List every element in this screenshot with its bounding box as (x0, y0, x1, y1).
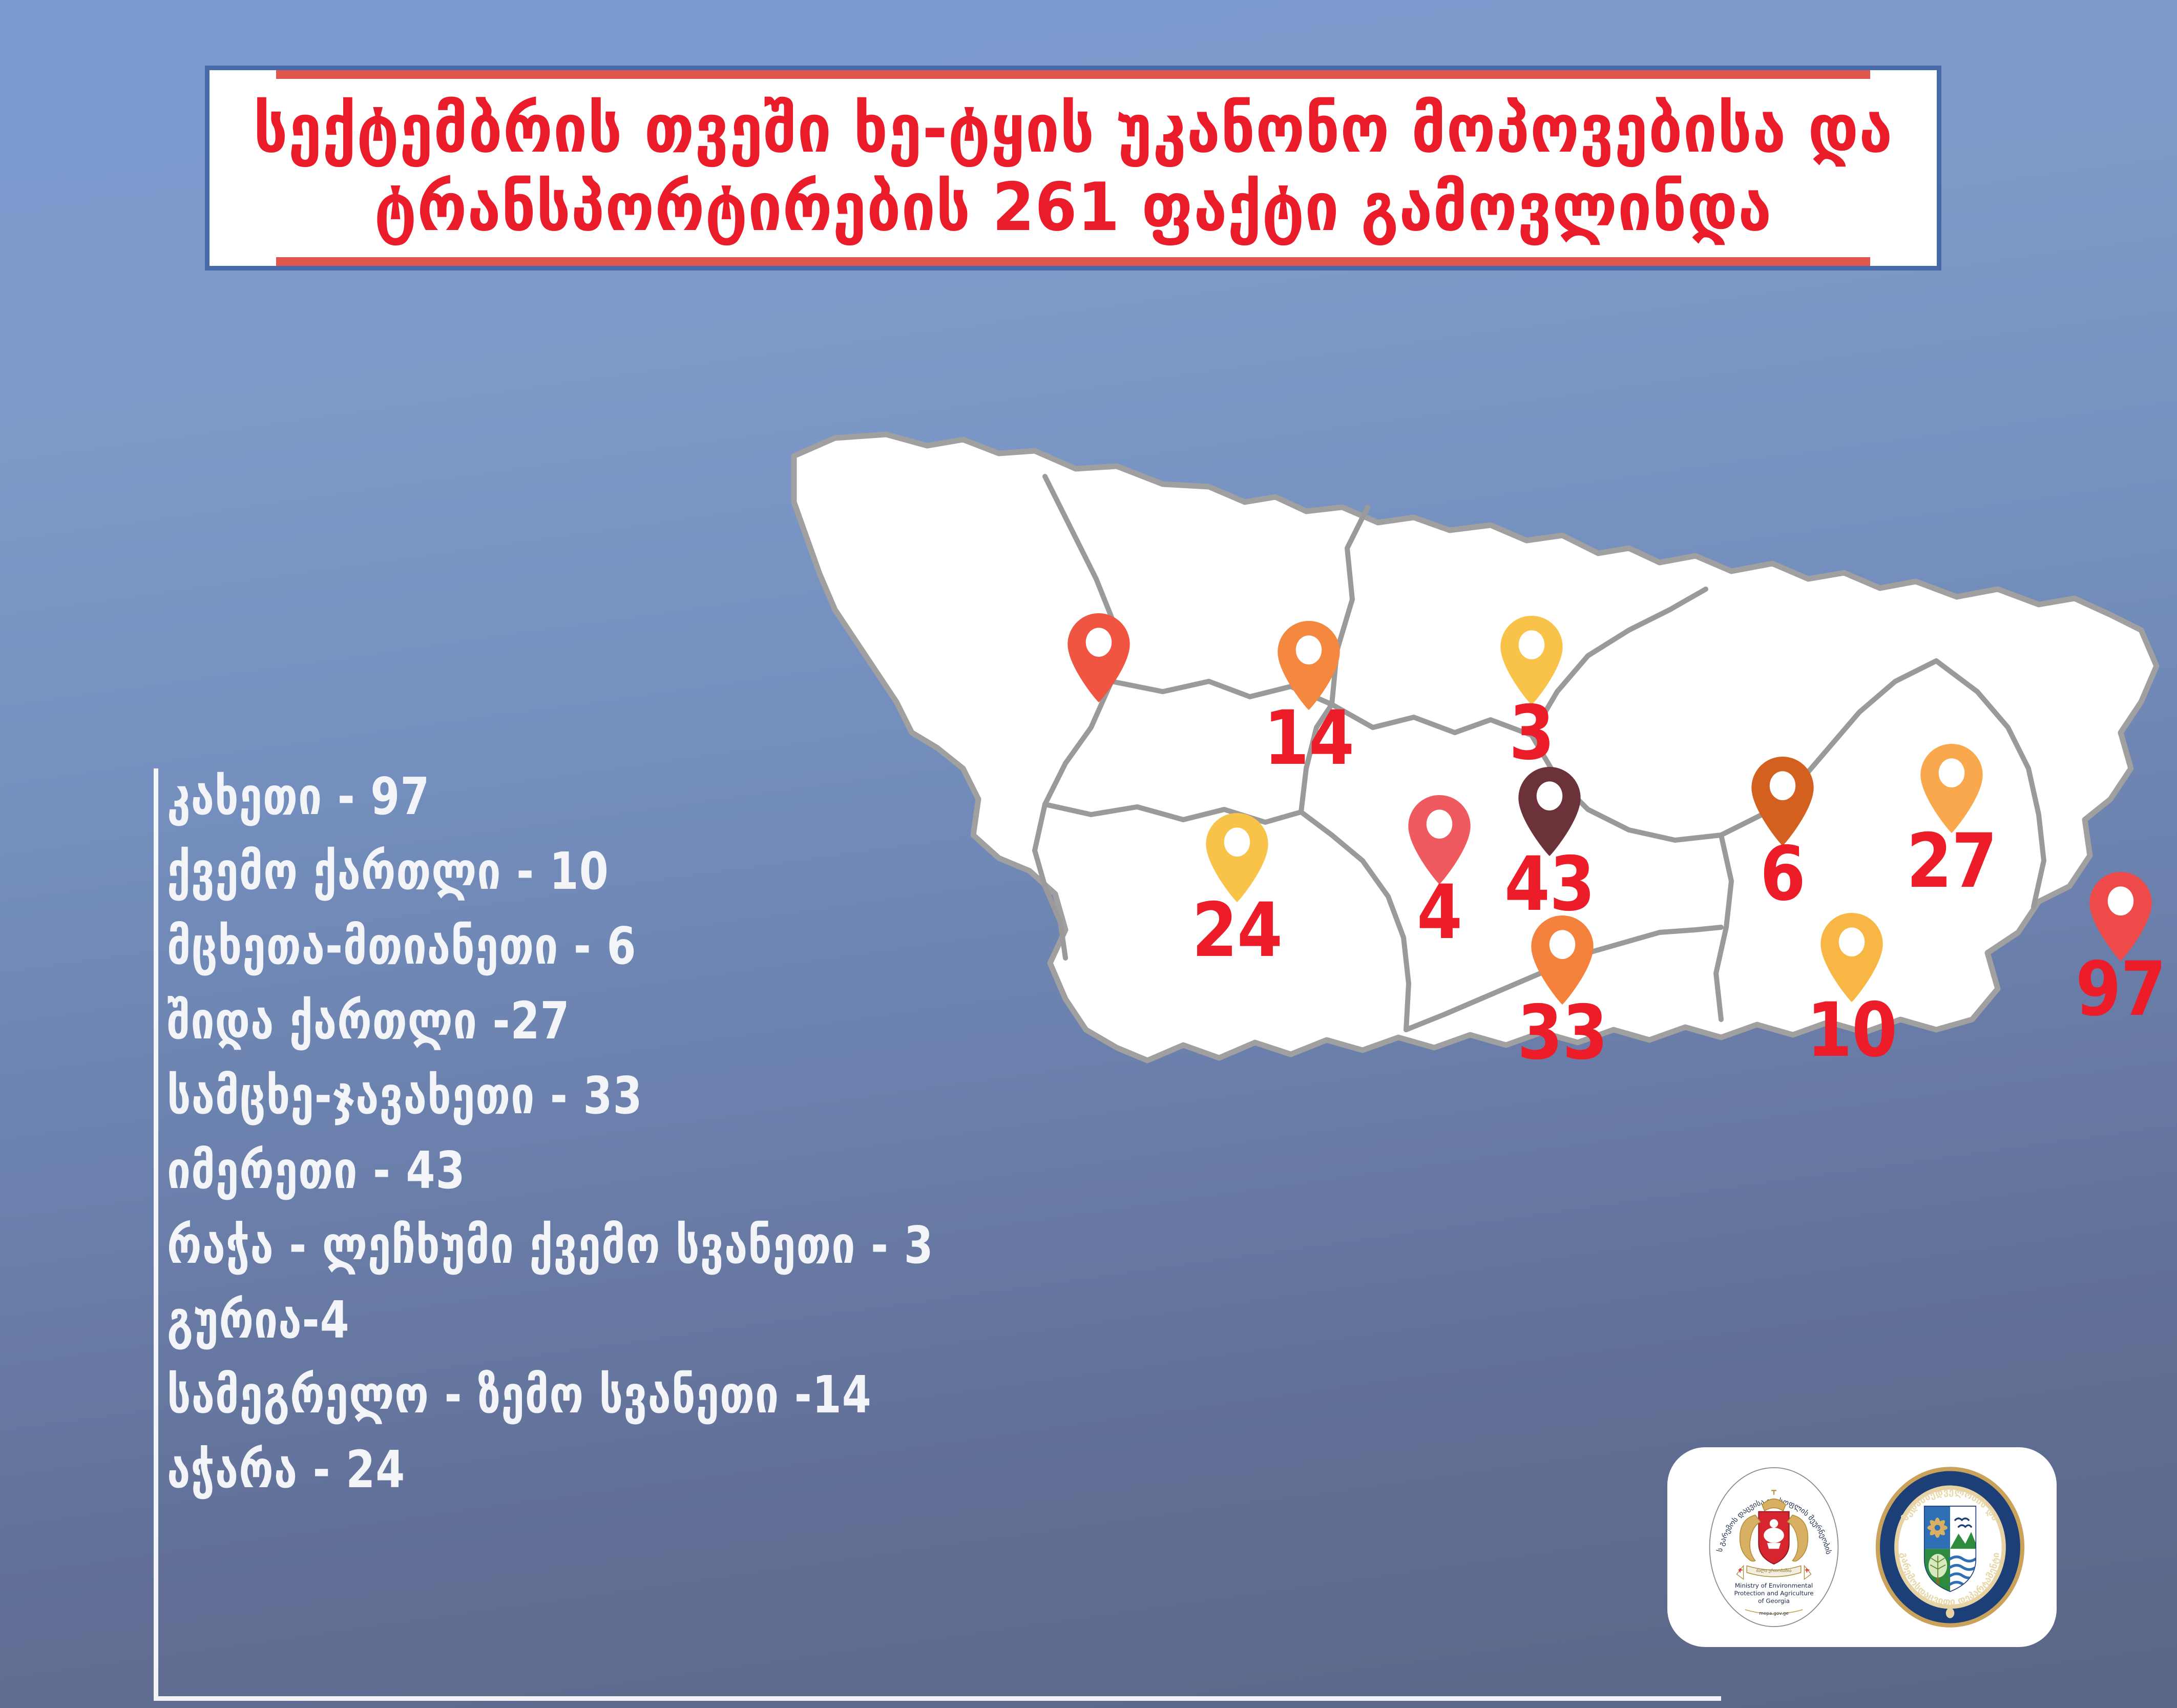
pin-samegrelo[interactable] (1065, 612, 1132, 703)
svg-text:ძალა ერთობაშია: ძალა ერთობაშია (1756, 1568, 1791, 1573)
mepa-logo: საქართველოს გარემოს დაცვისა და სოფლის მე… (1689, 1463, 1858, 1632)
pin-value-kvemo-kartli: 10 (1807, 993, 1897, 1068)
pin-value-kakheti: 97 (2076, 952, 2166, 1027)
legend-item-adjara: აჭარა - 24 (154, 1445, 934, 1496)
pin-value-shida-kartli: 27 (1907, 824, 1997, 899)
legend-item-samegrelo-zemo-svaneti: სამეგრელო - ზემო სვანეთი -14 (154, 1370, 934, 1421)
pin-value-mtskheta-mtianeti: 6 (1760, 837, 1805, 912)
title-stripe-bottom (276, 257, 1870, 266)
georgia-map: 14 3 43 6 27 24 4 (758, 425, 2172, 1296)
legend-item-guria: გურია-4 (154, 1295, 934, 1346)
pin-kakheti[interactable]: 97 (2087, 871, 2154, 962)
pin-value-imereti: 43 (1504, 847, 1595, 922)
title-line-2: ტრანსპორტირების 261 ფაქტი გამოვლინდა (374, 164, 1772, 251)
pin-value-racha-lechkhumi: 3 (1509, 696, 1554, 771)
pin-guria[interactable]: 4 (1406, 794, 1473, 885)
pin-samtskhe-javakheti[interactable]: 33 (1529, 914, 1596, 1006)
pin-mtskheta-mtianeti[interactable]: 6 (1749, 756, 1816, 847)
title-banner: სექტემბრის თვეში ხე-ტყის უკანონო მოპოვებ… (205, 66, 1941, 270)
pin-imereti[interactable]: 43 (1516, 766, 1583, 857)
map-pin-icon[interactable] (1065, 612, 1132, 703)
pin-value-guria: 4 (1417, 876, 1462, 950)
environmental-supervision-logo: ზედამხედველობის და გარემოსდაცვითი დეპარტ… (1866, 1463, 2035, 1632)
pin-samegrelo-zemo-svaneti[interactable]: 14 (1275, 620, 1342, 711)
pin-kvemo-kartli[interactable]: 10 (1818, 912, 1885, 1003)
pin-value-samtskhe-javakheti: 33 (1517, 996, 1607, 1071)
pin-value-samegrelo-zemo-svaneti: 14 (1264, 701, 1354, 776)
logo-card: საქართველოს გარემოს დაცვისა და სოფლის მე… (1667, 1447, 2057, 1647)
pin-adjara[interactable]: 24 (1204, 812, 1270, 903)
title-line-1: სექტემბრის თვეში ხე-ტყის უკანონო მოპოვებ… (254, 86, 1893, 172)
mepa-website: mepa.gov.ge (1759, 1611, 1789, 1616)
mepa-caption-en-1: Ministry of Environmental (1735, 1582, 1813, 1589)
pin-value-adjara: 24 (1192, 893, 1282, 968)
pin-racha-lechkhumi[interactable]: 3 (1498, 615, 1565, 706)
title-stripe-top (276, 70, 1870, 79)
mepa-caption-en-3: of Georgia (1758, 1597, 1790, 1605)
pin-shida-kartli[interactable]: 27 (1918, 743, 1985, 834)
mepa-caption-en-2: Protection and Agriculture (1734, 1590, 1813, 1597)
